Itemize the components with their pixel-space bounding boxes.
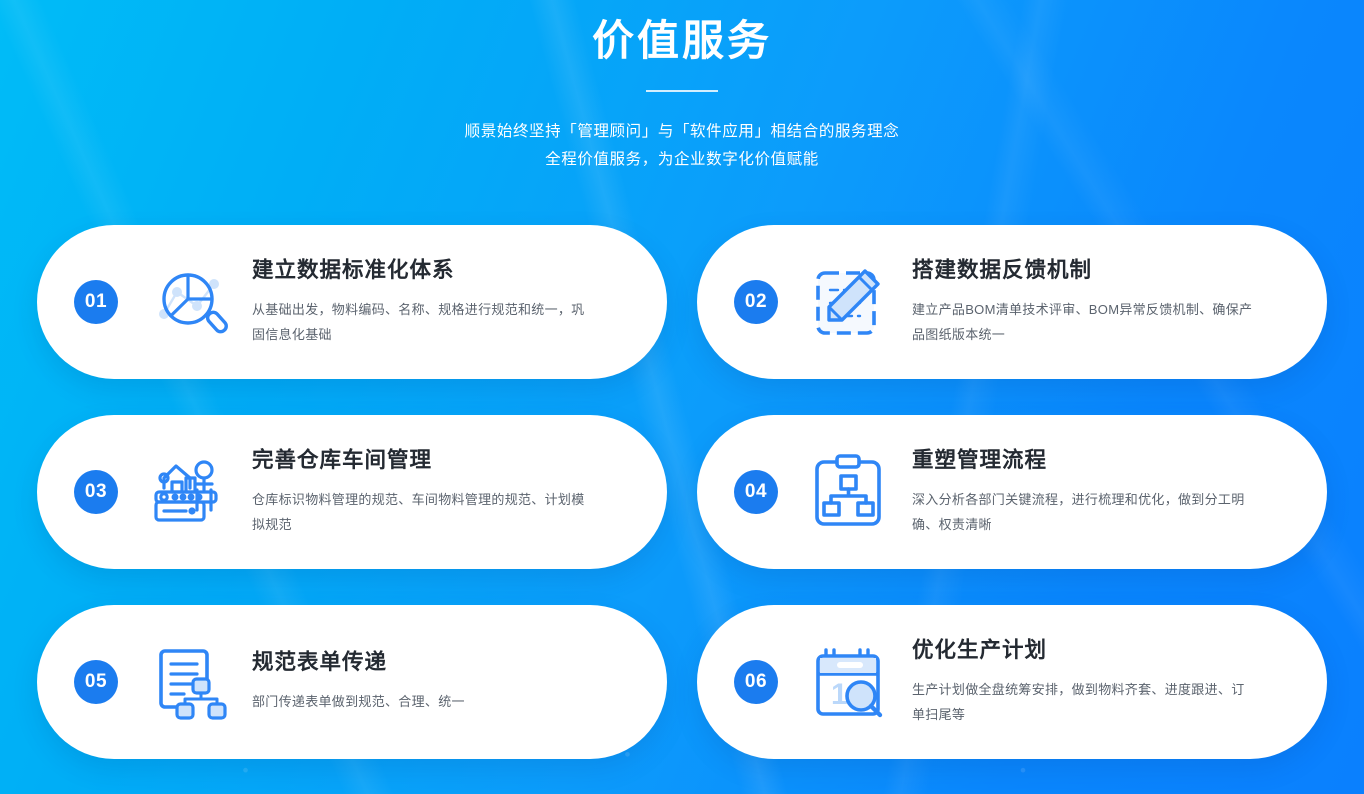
service-card-05[interactable]: 05 规范表单传递 部门传递表单做到规范、合理、统一 [37,605,667,759]
card-number-badge: 03 [74,470,118,514]
hero-section: 价值服务 顺景始终坚持「管理顾问」与「软件应用」相结合的服务理念 全程价值服务，… [0,0,1364,175]
card-number-badge: 04 [734,470,778,514]
card-text-block: 优化生产计划 生产计划做全盘统筹安排，做到物料齐套、进度跟进、订单扫尾等 [900,637,1327,728]
card-number-badge: 01 [74,280,118,324]
service-card-grid: 01 建立数据标准化体系 从基础出发，物料编码、名称、规格进行规范和统一，巩固信… [37,225,1327,759]
service-card-02[interactable]: 02 搭建数据反馈机制 建立产品BOM清单技术评审、BOM异常反馈机制、确保产品… [697,225,1327,379]
card-number-badge: 06 [734,660,778,704]
clipboard-org-chart-icon [796,440,900,544]
service-card-03[interactable]: 03 完善仓库车间管理 仓库标 [37,415,667,569]
card-description: 深入分析各部门关键流程，进行梳理和优化，做到分工明确、权责清晰 [912,487,1257,538]
hero-subtitle-line-1: 顺景始终坚持「管理顾问」与「软件应用」相结合的服务理念 [465,123,900,140]
card-title: 重塑管理流程 [912,447,1297,474]
title-divider [646,90,718,92]
card-text-block: 规范表单传递 部门传递表单做到规范、合理、统一 [240,649,667,714]
card-title: 建立数据标准化体系 [252,257,637,284]
card-text-block: 重塑管理流程 深入分析各部门关键流程，进行梳理和优化，做到分工明确、权责清晰 [900,447,1327,538]
card-description: 生产计划做全盘统筹安排，做到物料齐套、进度跟进、订单扫尾等 [912,677,1257,728]
pie-chart-magnifier-icon [136,250,240,354]
notepad-pencil-icon [796,250,900,354]
card-text-block: 完善仓库车间管理 仓库标识物料管理的规范、车间物料管理的规范、计划模拟规范 [240,447,667,538]
service-card-01[interactable]: 01 建立数据标准化体系 从基础出发，物料编码、名称、规格进行规范和统一，巩固信… [37,225,667,379]
document-hierarchy-icon [136,630,240,734]
factory-worker-conveyor-icon [136,440,240,544]
card-title: 优化生产计划 [912,637,1297,664]
card-description: 从基础出发，物料编码、名称、规格进行规范和统一，巩固信息化基础 [252,297,597,348]
card-number-badge: 05 [74,660,118,704]
card-title: 规范表单传递 [252,649,637,676]
calendar-magnifier-icon: 11 [796,630,900,734]
card-number-badge: 02 [734,280,778,324]
card-text-block: 搭建数据反馈机制 建立产品BOM清单技术评审、BOM异常反馈机制、确保产品图纸版… [900,257,1327,348]
page-title: 价值服务 [0,14,1364,68]
card-text-block: 建立数据标准化体系 从基础出发，物料编码、名称、规格进行规范和统一，巩固信息化基… [240,257,667,348]
hero-subtitle-line-2: 全程价值服务，为企业数字化价值赋能 [545,151,819,168]
service-card-04[interactable]: 04 重塑管理流程 深入分析各部门关键流程，进行梳理和优化，做到分工明确、权责清… [697,415,1327,569]
card-description: 建立产品BOM清单技术评审、BOM异常反馈机制、确保产品图纸版本统一 [912,297,1257,348]
card-title: 完善仓库车间管理 [252,447,637,474]
card-description: 部门传递表单做到规范、合理、统一 [252,689,597,714]
hero-subtitle: 顺景始终坚持「管理顾问」与「软件应用」相结合的服务理念 全程价值服务，为企业数字… [0,118,1364,175]
service-card-06[interactable]: 06 11 优化生产计划 生产计划做全盘统筹安排，做到物料齐套、进度跟进、订单扫… [697,605,1327,759]
card-description: 仓库标识物料管理的规范、车间物料管理的规范、计划模拟规范 [252,487,597,538]
card-title: 搭建数据反馈机制 [912,257,1297,284]
